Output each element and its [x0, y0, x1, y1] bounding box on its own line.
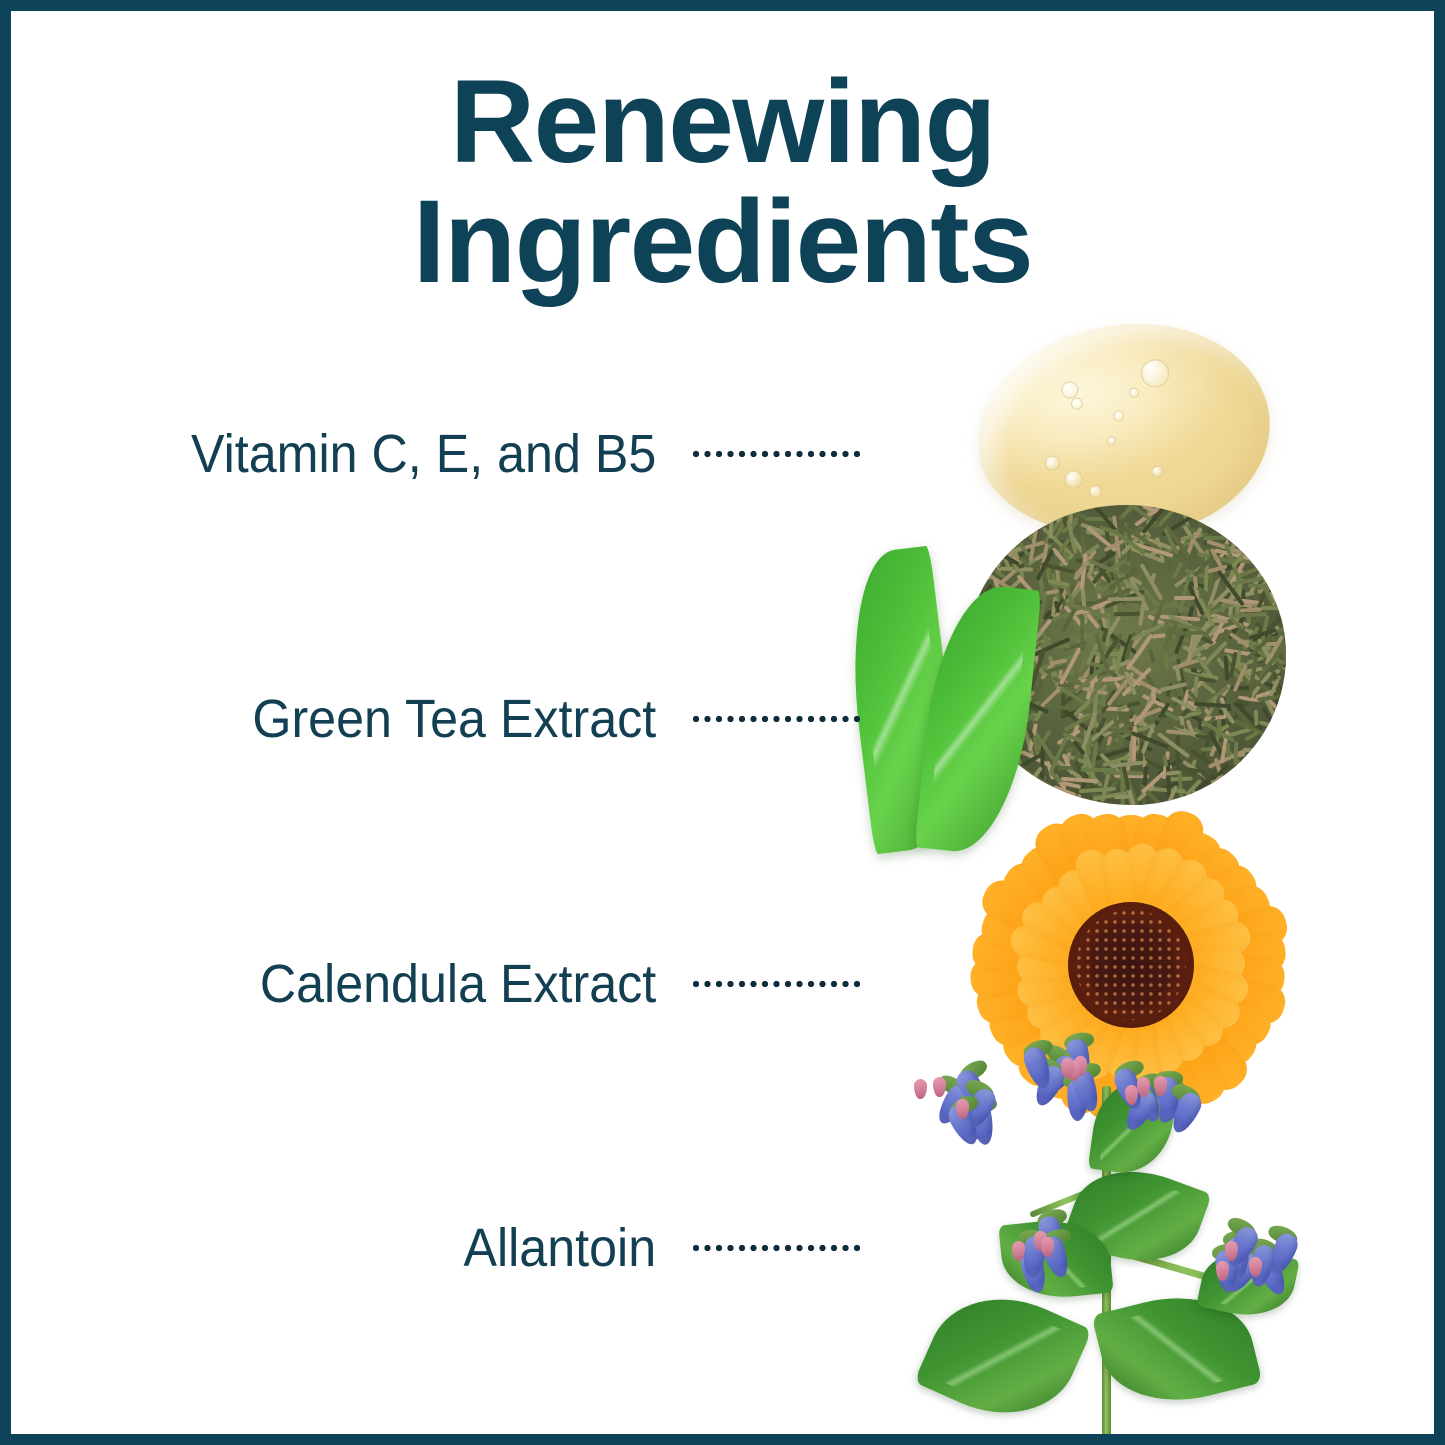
oil-bubble-icon — [1113, 410, 1125, 422]
page-title: Renewing Ingredients — [0, 62, 1445, 302]
oil-bubble-icon — [1060, 381, 1079, 400]
leader-dots-icon-vitamins — [692, 450, 860, 458]
tea-strand — [1058, 766, 1073, 770]
leader-dots-icon-calendula — [692, 980, 860, 988]
ingredient-label-vitamins: Vitamin C, E, and B5 — [191, 424, 656, 484]
tea-strand — [1203, 536, 1227, 541]
ingredient-row-calendula: Calendula Extract — [60, 949, 860, 1019]
ingredient-label-calendula: Calendula Extract — [260, 954, 656, 1014]
title-line-2: Ingredients — [0, 182, 1445, 302]
tea-strand — [1081, 768, 1117, 772]
oil-bubble-icon — [1044, 455, 1060, 471]
border-right — [1434, 0, 1445, 1445]
ingredient-row-allantoin: Allantoin — [60, 1213, 860, 1283]
ingredient-row-green-tea: Green Tea Extract — [60, 684, 860, 754]
oil-bubble-icon — [1089, 485, 1103, 499]
tea-strand — [1264, 725, 1272, 741]
tea-strand — [1228, 765, 1244, 770]
oil-bubble-icon — [1128, 387, 1139, 398]
leader-dots-icon-green-tea — [692, 715, 860, 723]
comfrey-plant-image — [906, 1060, 1376, 1440]
ingredients-infographic: Renewing Ingredients Vitamin C, E, and B… — [0, 0, 1445, 1445]
oil-bubble-icon — [1151, 465, 1164, 478]
border-bottom — [0, 1434, 1445, 1445]
tea-strand — [1217, 718, 1222, 731]
tea-strand — [979, 545, 991, 549]
oil-bubble-icon — [1140, 358, 1171, 389]
tea-strand — [1226, 743, 1230, 757]
tea-strand — [1080, 614, 1084, 651]
tea-strand — [1254, 710, 1259, 727]
tea-strand — [1107, 596, 1143, 601]
oil-bubble-icon — [1064, 470, 1084, 490]
tea-strand — [1106, 745, 1120, 750]
oil-bubble-icon — [1071, 397, 1084, 410]
comfrey-bud-icon — [933, 1077, 946, 1097]
comfrey-bud-icon — [914, 1079, 927, 1099]
oil-bubble-icon — [1107, 436, 1117, 446]
comfrey-leaf-image — [914, 1272, 1093, 1439]
tea-strand — [1040, 729, 1052, 745]
ingredient-visual-stack — [848, 300, 1438, 1440]
ingredient-row-vitamins: Vitamin C, E, and B5 — [60, 419, 860, 489]
tea-strand — [1200, 681, 1216, 694]
tea-strand — [1149, 648, 1156, 662]
tea-strand — [1174, 596, 1195, 600]
ingredient-label-allantoin: Allantoin — [463, 1218, 656, 1278]
tea-strand — [1240, 607, 1262, 612]
tea-strand — [1152, 634, 1166, 639]
ingredient-label-green-tea: Green Tea Extract — [252, 689, 656, 749]
tea-strand — [1269, 540, 1285, 545]
leader-dots-icon-allantoin — [692, 1244, 860, 1252]
border-top — [0, 0, 1445, 11]
tea-strand — [1113, 612, 1140, 616]
title-line-1: Renewing — [0, 62, 1445, 182]
calendula-center — [1068, 902, 1194, 1028]
border-left — [0, 0, 11, 1445]
